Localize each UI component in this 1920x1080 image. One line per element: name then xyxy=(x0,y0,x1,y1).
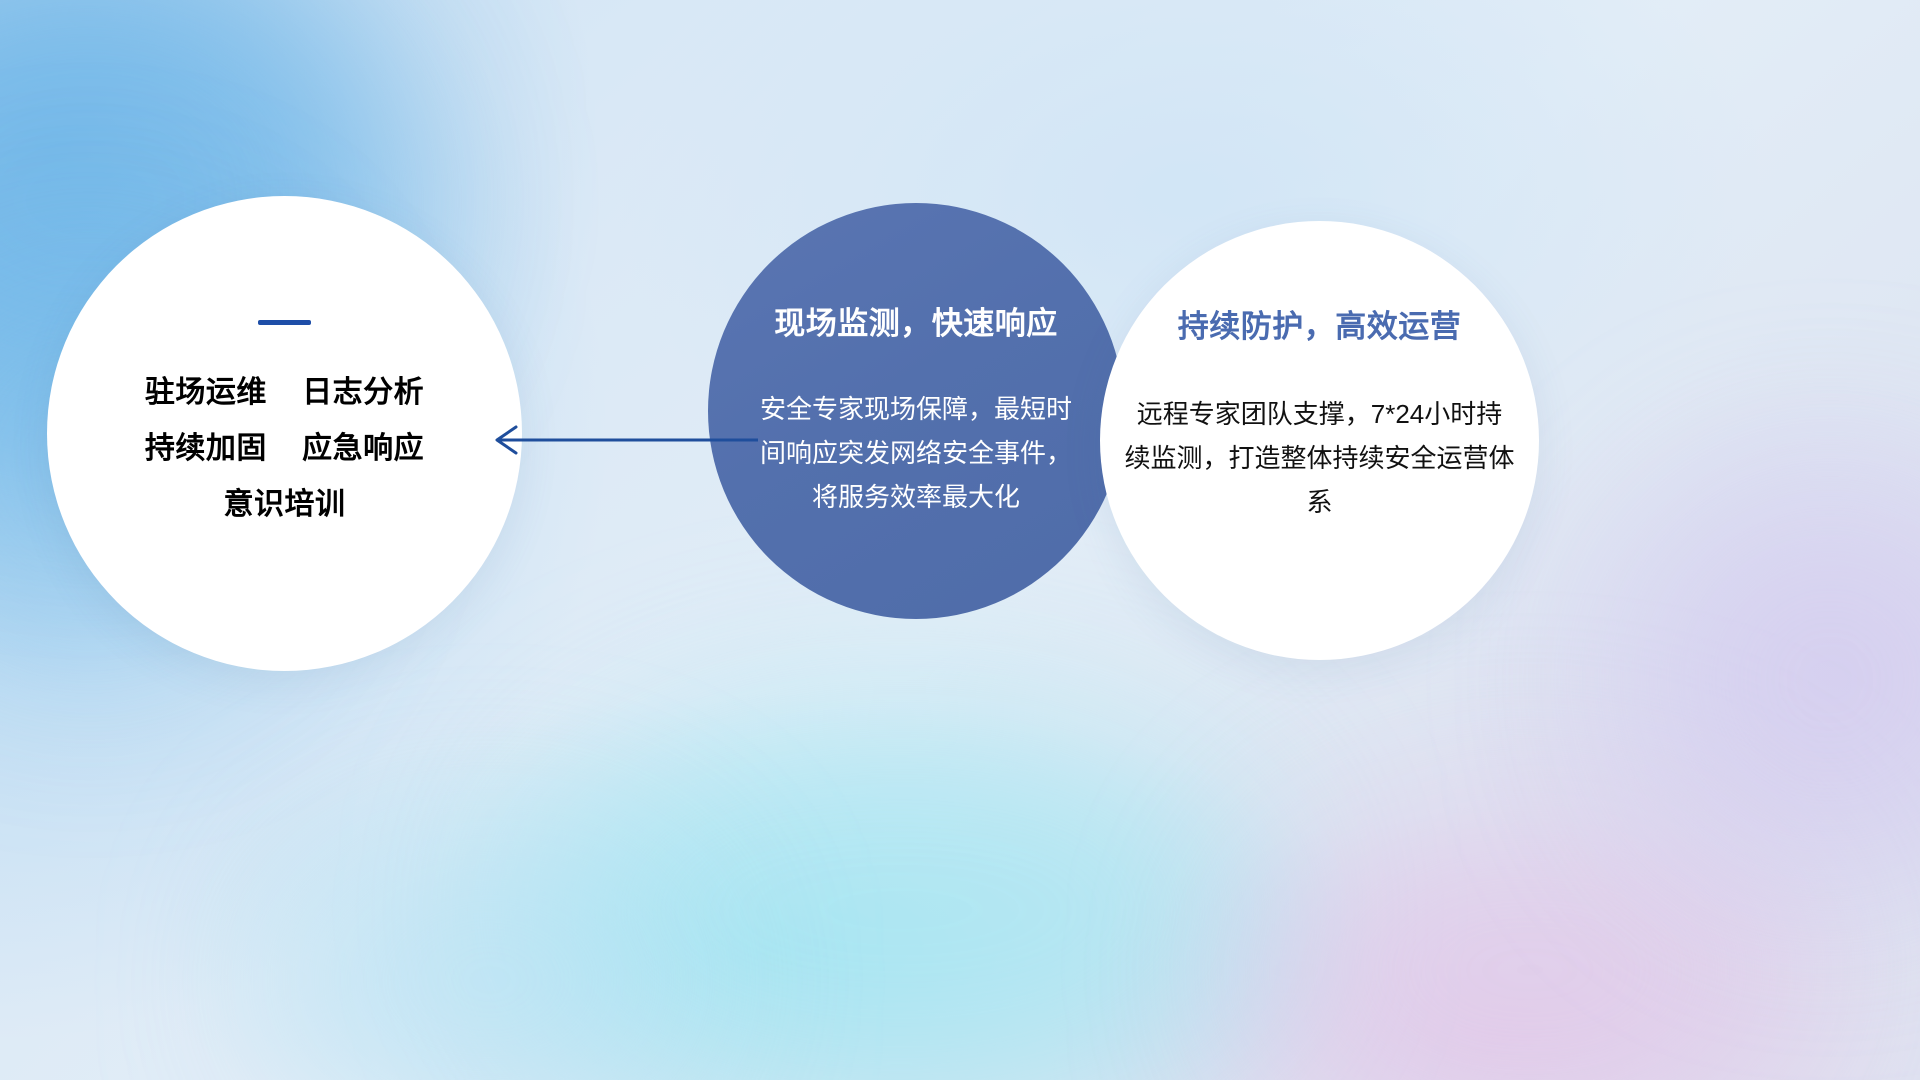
background-glow-bottom-center xyxy=(520,700,1280,1080)
background-glow-right xyxy=(1620,470,1920,890)
capability-circle-left[interactable]: 驻场运维 日志分析 持续加固 应急响应 意识培训 xyxy=(47,196,522,671)
middle-circle-body: 安全专家现场保障，最短时间响应突发网络安全事件，将服务效率最大化 xyxy=(751,387,1081,519)
background-glow-bottom-right xyxy=(1250,790,1810,1080)
capability-line-2: 持续加固 应急响应 xyxy=(47,421,522,477)
right-circle-title: 持续防护，高效运营 xyxy=(1178,301,1462,346)
divider-rule xyxy=(258,320,311,325)
right-circle-body: 远程专家团队支撑，7*24小时持续监测，打造整体持续安全运营体系 xyxy=(1125,392,1515,524)
capability-line-3: 意识培训 xyxy=(47,477,522,533)
capability-list: 驻场运维 日志分析 持续加固 应急响应 意识培训 xyxy=(47,365,522,533)
capability-circle-right[interactable]: 持续防护，高效运营 远程专家团队支撑，7*24小时持续监测，打造整体持续安全运营… xyxy=(1100,221,1539,660)
arrow-left-icon xyxy=(480,400,760,480)
middle-circle-title: 现场监测，快速响应 xyxy=(774,298,1058,343)
background-glow-bottom-left xyxy=(280,840,700,1080)
capability-circle-middle[interactable]: 现场监测，快速响应 安全专家现场保障，最短时间响应突发网络安全事件，将服务效率最… xyxy=(708,203,1124,619)
capability-line-1: 驻场运维 日志分析 xyxy=(47,365,522,421)
slide-canvas: 驻场运维 日志分析 持续加固 应急响应 意识培训 现场监测，快速响应 安全专家现… xyxy=(0,0,1920,1080)
